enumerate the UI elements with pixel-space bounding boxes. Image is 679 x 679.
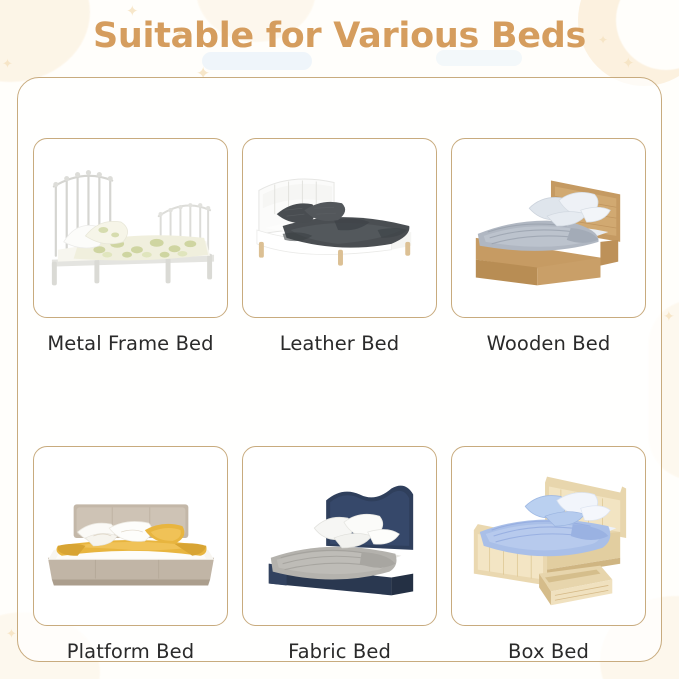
bed-cell-platform[interactable]: Platform Bed bbox=[33, 446, 228, 663]
bed-cell-leather[interactable]: Leather Bed bbox=[242, 138, 437, 355]
bed-cell-box[interactable]: Box Bed bbox=[451, 446, 646, 663]
bed-cell-fabric[interactable]: Fabric Bed bbox=[242, 446, 437, 663]
bed-card[interactable] bbox=[33, 446, 228, 626]
bed-card-label: Box Bed bbox=[508, 640, 589, 663]
bed-cell-wooden[interactable]: Wooden Bed bbox=[451, 138, 646, 355]
bed-type-grid: Metal Frame Bed bbox=[33, 138, 647, 663]
bed-cell-metal-frame[interactable]: Metal Frame Bed bbox=[33, 138, 228, 355]
bed-card-label: Platform Bed bbox=[67, 640, 194, 663]
wooden-bed-photo bbox=[452, 139, 645, 317]
decor-star-8: ✦ bbox=[6, 628, 17, 641]
bed-row-2: Platform Bed bbox=[33, 446, 647, 663]
promo-graphic: ✦ ✦ ✦ ✦ ✦ ✦ ✦ ✦ Suitable for Various Bed… bbox=[0, 0, 679, 679]
bed-card-label: Fabric Bed bbox=[288, 640, 391, 663]
decor-star-6: ✦ bbox=[2, 58, 13, 71]
bed-card[interactable] bbox=[451, 138, 646, 318]
bed-card[interactable] bbox=[33, 138, 228, 318]
bed-card-label: Leather Bed bbox=[280, 332, 400, 355]
leather-bed-photo bbox=[243, 139, 436, 317]
decor-star-5: ✦ bbox=[622, 56, 635, 71]
platform-bed-photo bbox=[34, 447, 227, 625]
bed-card[interactable] bbox=[242, 138, 437, 318]
bed-card[interactable] bbox=[451, 446, 646, 626]
box-bed-photo bbox=[452, 447, 645, 625]
bed-card[interactable] bbox=[242, 446, 437, 626]
decor-star-7: ✦ bbox=[663, 310, 675, 324]
bed-row-1: Metal Frame Bed bbox=[33, 138, 647, 355]
fabric-bed-photo bbox=[243, 447, 436, 625]
metal-frame-bed-photo bbox=[34, 139, 227, 317]
page-title: Suitable for Various Beds bbox=[0, 16, 679, 56]
bed-card-label: Metal Frame Bed bbox=[47, 332, 213, 355]
bed-card-label: Wooden Bed bbox=[487, 332, 611, 355]
